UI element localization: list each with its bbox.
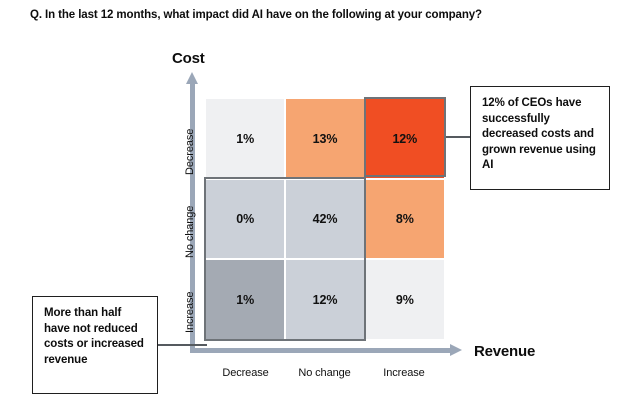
heatmap-cell: 12% (286, 260, 363, 339)
heatmap-cell: 1% (206, 99, 284, 178)
x-axis-arrow-icon (450, 344, 462, 356)
chart-canvas: Q. In the last 12 months, what impact di… (0, 0, 640, 410)
x-tick-no-change: No change (285, 367, 364, 379)
heatmap-cell: 8% (366, 180, 444, 258)
callout-connector-right (446, 136, 471, 138)
y-tick-no-change: No change (184, 206, 196, 258)
callout-box-left: More than half have not reduced costs or… (32, 296, 158, 394)
heatmap-cell: 42% (286, 180, 363, 258)
heatmap-cell: 12% (366, 99, 444, 178)
x-tick-decrease: Decrease (206, 367, 285, 379)
y-tick-increase: Increase (184, 292, 196, 333)
callout-connector-left-horizontal (157, 344, 207, 346)
heatmap-cell: 0% (206, 180, 284, 258)
question-headline: Q. In the last 12 months, what impact di… (30, 8, 610, 22)
x-axis-title: Revenue (474, 343, 535, 360)
callout-box-right: 12% of CEOs have successfully decreased … (470, 86, 610, 190)
heatmap-grid: 1%13%12%0%42%8%1%12%9% (206, 99, 444, 339)
y-tick-decrease: Decrease (184, 129, 196, 175)
y-axis-arrow-icon (186, 72, 198, 84)
heatmap-cell: 13% (286, 99, 363, 178)
x-axis-line (190, 348, 452, 353)
heatmap-cell: 1% (206, 260, 284, 339)
x-tick-increase: Increase (364, 367, 444, 379)
heatmap-cell: 9% (366, 260, 444, 339)
y-axis-title: Cost (172, 50, 205, 67)
